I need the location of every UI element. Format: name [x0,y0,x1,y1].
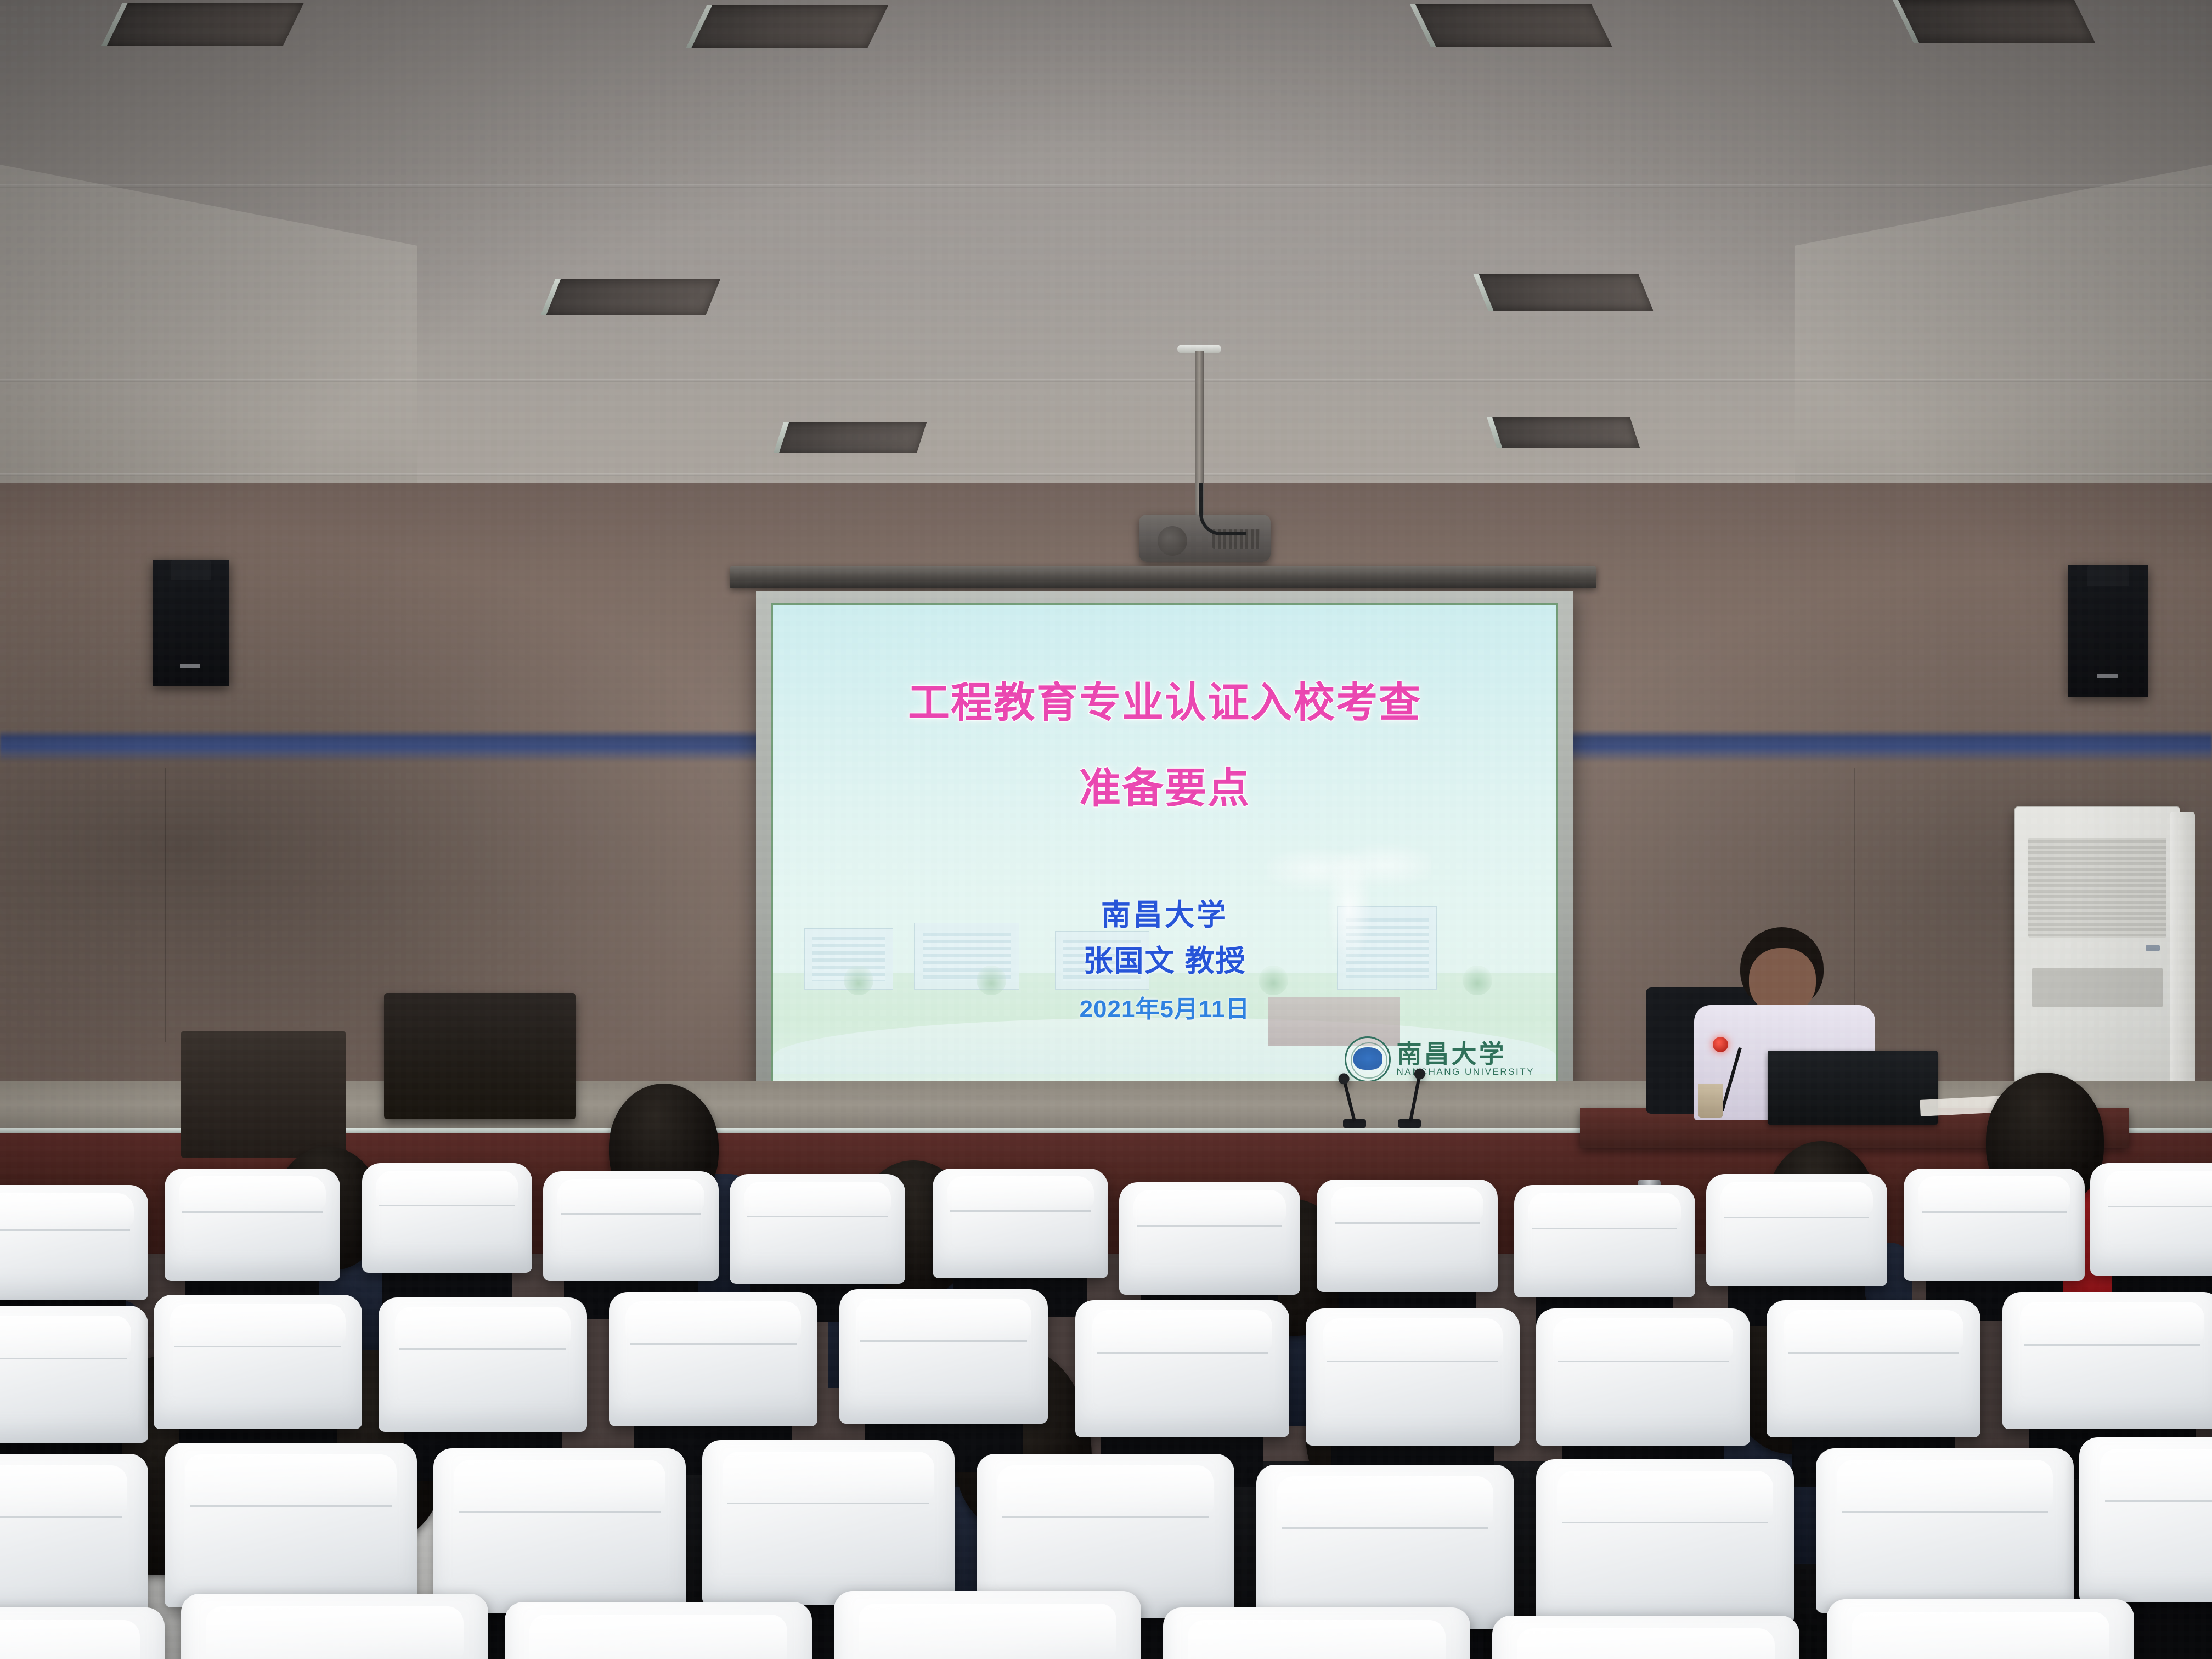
audience-seat [2002,1292,2212,1429]
logo-chinese-name: 南昌大学 [1396,1041,1534,1066]
audience-seat [2090,1163,2212,1276]
audience-seat [933,1169,1108,1278]
ceiling-light-panel [1410,4,1612,47]
ceiling-light-panel [686,5,888,48]
slide-presenter: 张国文 教授 [773,936,1556,980]
audience-seat [839,1289,1048,1424]
presenter-microphone-light [1713,1037,1728,1052]
ac-grille [2028,838,2166,938]
ceiling-seam-3 [0,473,2212,476]
wall-seam-left [165,768,166,1042]
audience-seat [1119,1182,1300,1295]
audience-seat [181,1594,488,1659]
slide-title-line-1: 工程教育专业认证入校考查 [773,669,1556,729]
audience-seat [1767,1300,1980,1437]
lecture-hall-photo: 工程教育专业认证入校考查 准备要点 南昌大学 张国文 教授 2021年5月11日… [0,0,2212,1659]
ceiling-seam-1 [0,184,2212,188]
audience-seat [1904,1169,2085,1281]
wall-speaker-right [2068,565,2148,697]
wall-seam-right [1854,768,1855,1020]
audience-seat [1492,1616,1799,1659]
ceiling-light-panel [774,422,927,453]
ceiling-light-panel [1487,417,1640,448]
projection-screen-surface: 工程教育专业认证入校考查 准备要点 南昌大学 张国文 教授 2021年5月11日… [771,603,1558,1093]
audience-seat [702,1440,955,1605]
audience-seat [154,1295,362,1429]
audience-seat [379,1297,587,1432]
projector-cable [1199,483,1246,535]
ceiling-seam-2 [0,379,2212,382]
audience-seat [0,1185,148,1300]
audience-seat [1536,1459,1794,1624]
ceiling-light-panel [1893,0,2095,43]
slide-date: 2021年5月11日 [773,989,1556,1024]
audience-seat [834,1591,1141,1659]
university-emblem-icon [1345,1036,1391,1082]
projection-screen: 工程教育专业认证入校考查 准备要点 南昌大学 张国文 教授 2021年5月11日… [756,591,1573,1107]
university-logo: 南昌大学 NANCHANG UNIVERSITY [1345,1036,1534,1082]
audience-seat [1536,1308,1750,1446]
audience-seat [1317,1180,1498,1292]
slide-text-block: 工程教育专业认证入校考查 准备要点 南昌大学 张国文 教授 2021年5月11日… [773,605,1556,1091]
speaker-left-vent [180,664,200,668]
audience-seat [1514,1185,1695,1297]
ceiling-light-panel [1474,274,1654,311]
audience-seat [543,1171,719,1281]
audience-seat [165,1169,340,1281]
audience-seat [505,1602,812,1659]
audience-seat [1816,1448,2074,1613]
ceiling-light-panel [541,279,721,315]
speaker-left-top [171,560,211,580]
speaker-right-vent [2097,674,2118,678]
presenter-face [1749,948,1816,1014]
audience-seat [1827,1599,2134,1659]
audience-seat [609,1292,817,1426]
wall-speaker-left [153,560,229,686]
presenter-cup [1698,1084,1723,1118]
projector-lens [1158,526,1187,556]
presentation-slide: 工程教育专业认证入校考查 准备要点 南昌大学 张国文 教授 2021年5月11日… [773,605,1556,1091]
presenter-laptop [1768,1051,1938,1125]
audience-seat [0,1454,148,1618]
ac-display-panel [2032,968,2163,1007]
ceiling-light-panel [102,3,304,46]
audience-seat [433,1448,686,1613]
audience-seat [0,1306,148,1443]
audience-seat [1163,1607,1470,1659]
speaker-right-top [2087,565,2129,586]
stage-side-panel [181,1031,346,1158]
audience-seat [1306,1308,1520,1446]
audience-seat [0,1607,165,1659]
slide-affiliation: 南昌大学 [773,890,1556,934]
audience-seat [730,1174,905,1284]
audience-seat [2079,1437,2212,1602]
emblem-ring [1351,1042,1387,1079]
audience-seat [1256,1465,1514,1629]
audience-seat [1706,1174,1887,1286]
stage-side-cabinet [384,993,576,1119]
audience-seat [165,1443,417,1607]
slide-title-line-2: 准备要点 [773,754,1556,815]
audience-seat [1075,1300,1289,1437]
audience-seat [362,1163,532,1273]
projection-screen-housing [730,566,1596,588]
ac-led-indicator [2146,945,2160,951]
